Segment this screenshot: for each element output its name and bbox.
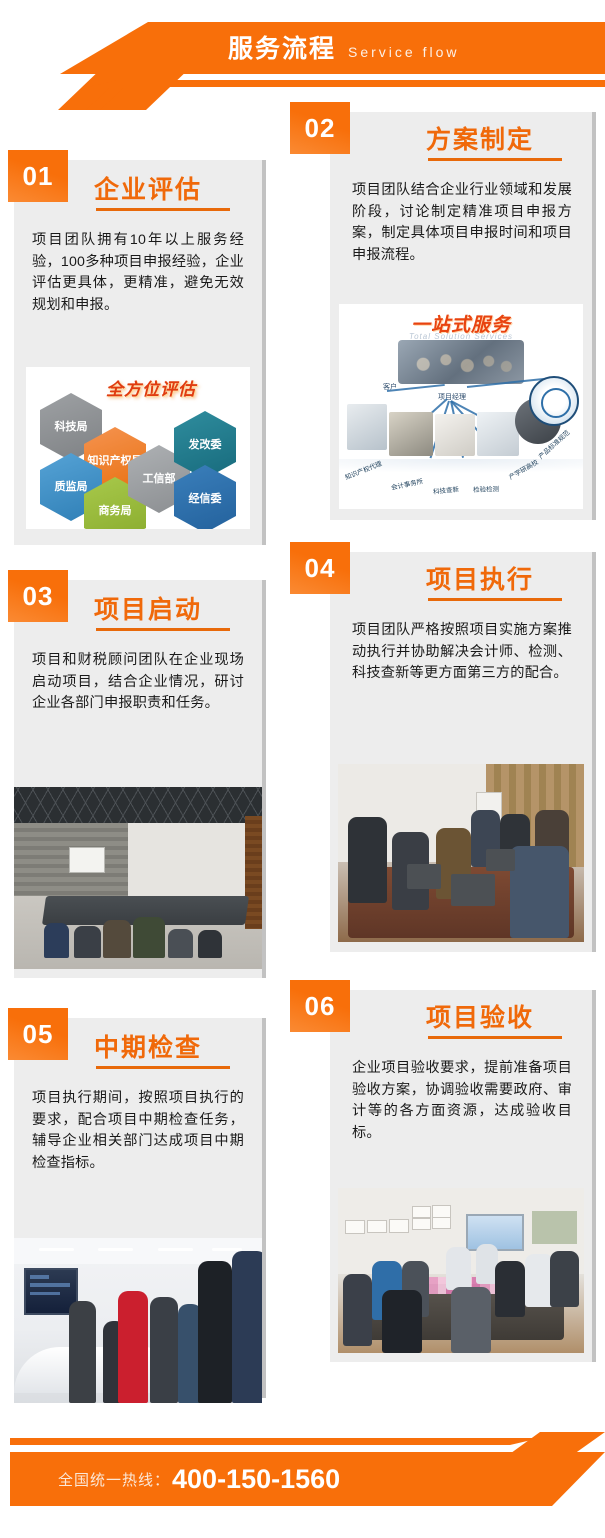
hotline-group: 全国统一热线： 400-150-1560 xyxy=(58,1452,340,1506)
branch-photo-accounting xyxy=(389,412,433,456)
card-title-rule xyxy=(96,208,230,211)
person xyxy=(348,817,387,902)
person xyxy=(495,1261,525,1317)
person xyxy=(150,1297,177,1403)
person xyxy=(74,926,101,958)
person xyxy=(168,929,193,958)
photo-working-meeting xyxy=(338,764,584,942)
whiteboard xyxy=(69,847,106,873)
step-number-badge: 01 xyxy=(8,150,68,202)
card-title: 项目执行 xyxy=(426,560,534,596)
card-title: 企业评估 xyxy=(94,170,202,206)
card-title-rule xyxy=(96,628,230,631)
laptop xyxy=(486,849,516,870)
green-board xyxy=(532,1211,576,1244)
person xyxy=(198,930,223,958)
certificate xyxy=(412,1206,431,1218)
person xyxy=(343,1274,373,1347)
page-subtitle: Service flow xyxy=(348,35,459,69)
card-description: 项目团队严格按照项目实施方案推动执行并协助解决会计师、检测、科技查新等更方面第三… xyxy=(352,620,572,685)
branch-photo-ip xyxy=(347,404,387,450)
footer-top-rule xyxy=(10,1438,540,1445)
card-title: 方案制定 xyxy=(426,120,534,156)
step-number-badge: 04 xyxy=(290,542,350,594)
certificate xyxy=(345,1220,365,1234)
page-footer: 全国统一热线： 400-150-1560 xyxy=(0,1420,605,1538)
step-card-06: 06 项目验收 企业项目验收要求，提前准备项目验收方案，协调验收需要政府、审计等… xyxy=(330,990,592,1362)
card-photo-working-meeting xyxy=(338,764,584,942)
card-description: 项目团队拥有10年以上服务经验，100多种项目申报经验，企业评估更具体，更精准，… xyxy=(32,230,244,316)
photo-showroom-visit xyxy=(14,1238,262,1403)
photo-conference-room xyxy=(14,787,262,969)
card-photo-conference-room xyxy=(14,787,262,969)
person xyxy=(198,1261,233,1403)
certificate xyxy=(412,1218,431,1230)
card-title: 项目启动 xyxy=(94,590,202,626)
step-card-03: 03 项目启动 项目和财税顾问团队在企业现场启动项目，结合企业情况，研讨企业各部… xyxy=(14,580,262,978)
hotline-number[interactable]: 400-150-1560 xyxy=(172,1464,340,1495)
person xyxy=(133,917,165,958)
certificate xyxy=(432,1205,451,1217)
step-number-badge: 03 xyxy=(8,570,68,622)
hexagon-assessment-infographic: 全方位评估 科技局 知识产权局 质监局 商务局 工信部 发改委 经信委 xyxy=(26,367,250,529)
card-title-rule xyxy=(428,1036,562,1039)
person xyxy=(382,1290,421,1353)
standards-seal-icon xyxy=(529,376,579,426)
step-number-badge: 05 xyxy=(8,1008,68,1060)
hub-photo xyxy=(398,340,524,384)
card-title-rule xyxy=(428,598,562,601)
laptop xyxy=(407,864,441,889)
branch-photo-search xyxy=(435,414,475,456)
page-header: 服务流程 Service flow xyxy=(0,0,605,110)
certificate xyxy=(432,1217,451,1229)
step-card-05: 05 中期检查 项目执行期间，按照项目执行的要求，配合项目中期检查任务，辅导企业… xyxy=(14,1018,262,1398)
one-stop-service-infographic: 一站式服务 Total Solution Services 客户 项目经理 知识… xyxy=(339,304,583,509)
service-flow-infographic: 服务流程 Service flow 01 企业评估 项目团队拥有10年以上服务经… xyxy=(0,0,605,1538)
person xyxy=(550,1251,580,1307)
certificate-wall xyxy=(345,1205,473,1245)
laptop xyxy=(451,874,495,906)
certificate xyxy=(389,1219,409,1233)
person xyxy=(103,920,130,958)
person-red-coat xyxy=(118,1291,148,1403)
certificate xyxy=(367,1220,387,1234)
screen-content xyxy=(30,1292,60,1295)
branch-caption-testing: 检验检测 xyxy=(473,483,499,494)
screen-content xyxy=(30,1283,70,1286)
person xyxy=(446,1247,471,1290)
step-number-badge: 06 xyxy=(290,980,350,1032)
ceiling-light xyxy=(39,1248,74,1252)
hotline-label: 全国统一热线： xyxy=(58,1469,170,1490)
card-description: 项目和财税顾问团队在企业现场启动项目，结合企业情况，研讨企业各部门申报职责和任务… xyxy=(32,650,244,715)
person xyxy=(510,846,569,939)
card-title-rule xyxy=(96,1066,230,1069)
step-card-02: 02 方案制定 项目团队结合企业行业领域和发展阶段，讨论制定精准项目申报方案，制… xyxy=(330,112,592,520)
branch-caption-search: 科技查新 xyxy=(432,483,459,496)
branch-photo-testing xyxy=(477,412,519,456)
card-photo-showroom-visit xyxy=(14,1238,262,1403)
person xyxy=(451,1287,490,1353)
header-title-group: 服务流程 Service flow xyxy=(228,32,459,66)
card-title-rule xyxy=(428,158,562,161)
page-title: 服务流程 xyxy=(228,32,336,66)
step-number-badge: 02 xyxy=(290,102,350,154)
person xyxy=(69,1301,96,1403)
photo-acceptance-meeting xyxy=(338,1188,584,1353)
attendees xyxy=(14,885,262,958)
ceiling-light xyxy=(98,1248,133,1252)
person xyxy=(44,923,69,958)
card-photo-acceptance-meeting xyxy=(338,1188,584,1353)
step-card-04: 04 项目执行 项目团队严格按照项目实施方案推动执行并协助解决会计师、检测、科技… xyxy=(330,552,592,952)
card-title: 中期检查 xyxy=(94,1028,202,1064)
infographic-heading: 全方位评估 xyxy=(106,375,196,400)
card-description: 项目执行期间，按照项目执行的要求，配合项目中期检查任务，辅导企业相关部门达成项目… xyxy=(32,1088,244,1174)
footer-diagonal-wing xyxy=(420,1452,605,1506)
hub-people-texture xyxy=(398,340,524,384)
step-card-01: 01 企业评估 项目团队拥有10年以上服务经验，100多种项目申报经验，企业评估… xyxy=(14,160,262,545)
person xyxy=(232,1251,262,1403)
card-description: 企业项目验收要求，提前准备项目验收方案，协调验收需要政府、审计等的各方面资源，达… xyxy=(352,1058,572,1144)
card-description: 项目团队结合企业行业领域和发展阶段，讨论制定精准项目申报方案，制定具体项目申报时… xyxy=(352,180,572,266)
card-title: 项目验收 xyxy=(426,998,534,1034)
header-underline xyxy=(88,80,605,87)
ceiling-light xyxy=(158,1248,193,1252)
screen-content xyxy=(30,1275,49,1279)
